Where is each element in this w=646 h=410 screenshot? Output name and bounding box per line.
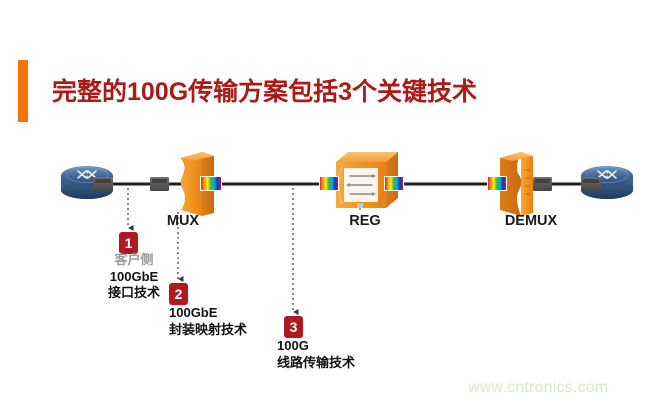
callout-3-line2: 线路传输技术 [277,355,355,372]
device-label-demux: DEMUX [488,213,574,229]
reg-icon [319,152,404,210]
callout-badge-3: 3 [284,316,303,338]
router-icon [581,166,633,199]
callout-1-line3: 接口技术 [86,285,182,302]
callout-2-line1: 100GbE [169,305,247,322]
demux-icon [487,152,533,216]
callout-text-2: 100GbE 封装映射技术 [169,305,247,338]
device-label-mux: MUX [148,213,218,229]
watermark: www.cntronics.com [468,379,608,397]
mux-icon [181,152,222,216]
connector-block-left [150,177,169,191]
callout-badge-2: 2 [169,283,188,305]
callout-1-line1: 客户侧 [86,252,182,269]
device-label-reg: REG [330,213,400,229]
callout-text-3: 100G 线路传输技术 [277,338,355,371]
callout-2-line2: 封装映射技术 [169,322,247,339]
connector-block-right [533,177,552,191]
callout-3-line1: 100G [277,338,355,355]
router-icon [61,166,113,199]
slide-canvas: 完整的100G传输方案包括3个关键技术 [0,0,646,410]
callout-badge-1: 1 [119,232,138,254]
callout-text-1: 客户侧 100GbE 接口技术 [86,252,182,302]
callout-1-line2: 100GbE [86,269,182,286]
